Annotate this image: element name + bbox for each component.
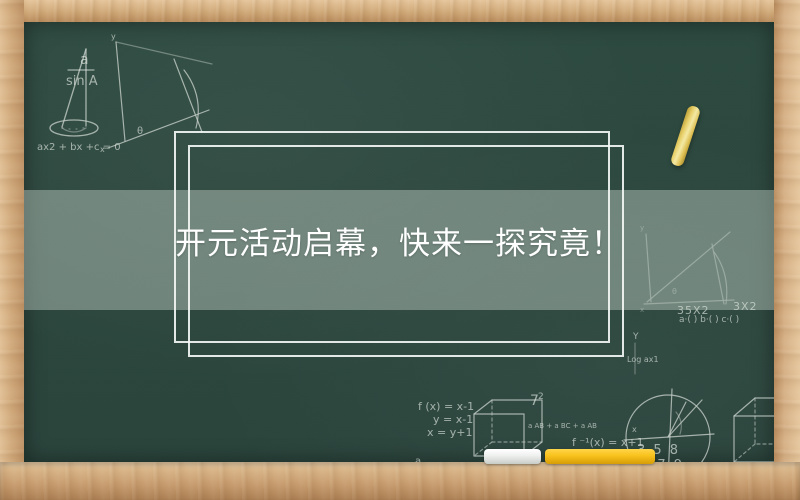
- svg-text:Log ax1: Log ax1: [627, 355, 659, 364]
- svg-text:a: a: [80, 52, 89, 68]
- chalkboard-banner: a sin A y x θ ax2 + bx +c =: [0, 0, 800, 500]
- svg-text:x: x: [640, 306, 644, 314]
- function-equations-bottomleft: f (x) = x-1 y = x-1 x = y+1: [418, 400, 474, 439]
- svg-text:3X2: 3X2: [733, 300, 758, 313]
- frame-right-rail: [774, 0, 800, 500]
- yellow-chalk-stick-floating: [670, 105, 702, 168]
- cube-drawing-right: [734, 398, 774, 462]
- svg-text:x = y+1: x = y+1: [427, 426, 472, 439]
- svg-text:f (x) = x-1: f (x) = x-1: [418, 400, 474, 413]
- svg-text:2: 2: [538, 392, 544, 402]
- svg-text:y: y: [111, 32, 116, 41]
- svg-text:f ⁻¹(x) = x+1: f ⁻¹(x) = x+1: [572, 436, 644, 449]
- right-symbol-row: a·( ) b·( ) c·( ): [679, 315, 739, 325]
- frame-left-rail: [0, 0, 24, 500]
- svg-text:7: 7: [530, 393, 539, 409]
- inverse-function-equation: f ⁻¹(x) = x+1: [572, 436, 644, 449]
- right-axis-log: Y Log ax1: [627, 332, 659, 374]
- cube-drawing-center: [474, 400, 542, 456]
- yellow-chalk-on-tray: [545, 449, 655, 464]
- svg-text:θ: θ: [137, 126, 143, 137]
- svg-text:θ: θ: [672, 287, 677, 296]
- svg-text:a·( ) b·( ) c·( ): a·( ) b·( ) c·( ): [679, 315, 739, 325]
- seven-squared-label: 7 2: [530, 392, 544, 409]
- svg-text:x: x: [632, 425, 637, 434]
- cone-drawing: [50, 49, 98, 136]
- frame-bottom-rail-tray: [0, 462, 800, 500]
- small-vector-equation: a AB + a BC + a AB: [528, 422, 597, 430]
- svg-text:y = x-1: y = x-1: [433, 413, 473, 426]
- svg-text:35X2: 35X2: [677, 304, 710, 317]
- angle-axis-diagram-topleft: y x θ: [100, 32, 212, 154]
- cone-dots: [62, 128, 84, 129]
- white-chalk-on-tray: [484, 449, 541, 464]
- quadratic-equation-topleft: ax2 + bx +c = 0: [37, 142, 121, 153]
- svg-text:ax2 + bx +c = 0: ax2 + bx +c = 0: [37, 142, 121, 153]
- chalkboard-surface: a sin A y x θ ax2 + bx +c =: [24, 22, 774, 462]
- svg-text:a AB + a BC + a AB: a AB + a BC + a AB: [528, 422, 597, 430]
- fraction-a-over-sina-topleft: a sin A: [66, 52, 98, 89]
- label-35x2-3x2: 35X2 3X2: [677, 300, 758, 317]
- banner-headline: 开元活动启幕，快来一探究竟！: [24, 218, 774, 263]
- svg-text:sin A: sin A: [66, 74, 98, 89]
- svg-text:Y: Y: [632, 332, 639, 342]
- svg-text:x: x: [100, 145, 105, 154]
- frame-top-rail: [0, 0, 800, 22]
